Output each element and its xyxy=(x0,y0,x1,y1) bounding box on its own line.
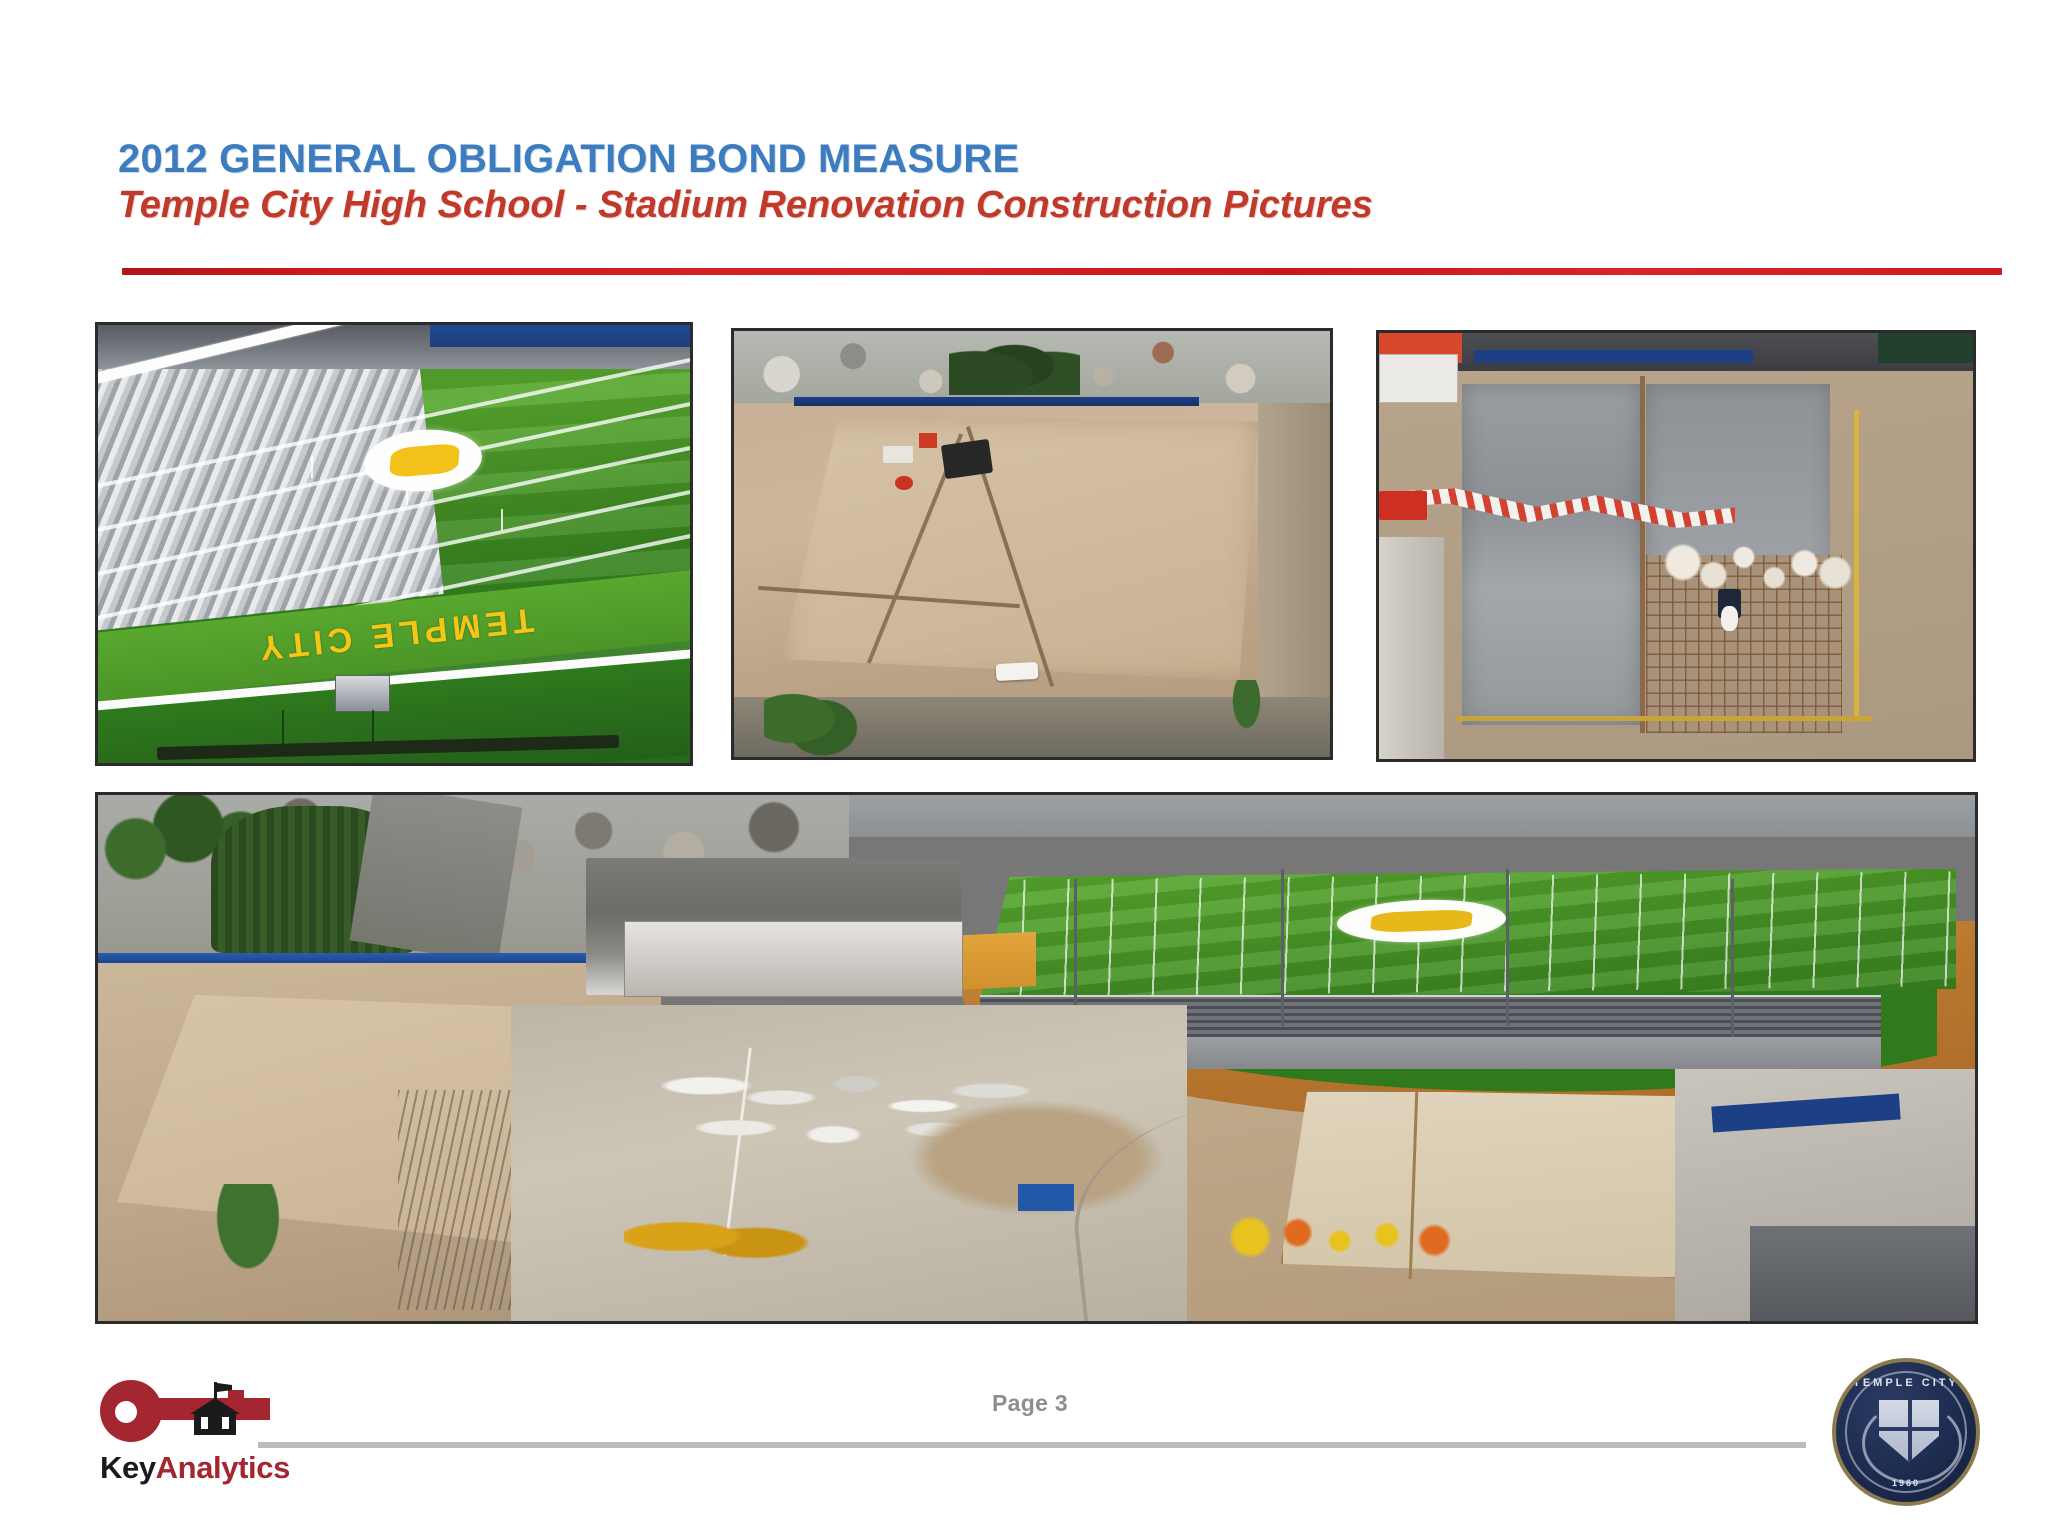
formwork-edge xyxy=(1640,376,1645,734)
logo-word-analytics: Analytics xyxy=(156,1450,290,1485)
flag-icon xyxy=(217,1383,232,1392)
field-equipment-cart xyxy=(335,675,390,712)
formwork-edge xyxy=(1456,716,1872,721)
light-pole xyxy=(1506,869,1509,1027)
blue-bin xyxy=(1018,1184,1074,1210)
page-number: Page 3 xyxy=(910,1390,1150,1417)
page-title: 2012 GENERAL OBLIGATION BOND MEASURE xyxy=(118,138,1978,180)
key-hole-icon xyxy=(115,1401,137,1423)
construction-workers xyxy=(1224,1216,1487,1258)
footer-divider xyxy=(258,1442,1806,1448)
slide: 2012 GENERAL OBLIGATION BOND MEASURE Tem… xyxy=(0,0,2048,1536)
foreground-tree xyxy=(764,680,859,757)
construction-equipment xyxy=(883,446,913,463)
red-truck xyxy=(1379,491,1427,521)
keyanalytics-wordmark: KeyAnalytics xyxy=(100,1450,290,1486)
green-screen-fence xyxy=(1878,333,1973,363)
slide-header: 2012 GENERAL OBLIGATION BOND MEASURE Tem… xyxy=(118,138,1978,226)
residential-street xyxy=(349,792,522,964)
school-window-icon xyxy=(222,1417,229,1429)
concrete-debris xyxy=(1664,542,1854,593)
photo-concrete-pour xyxy=(1376,330,1976,762)
schoolhouse-icon xyxy=(190,1382,240,1434)
light-pole xyxy=(1731,879,1734,1037)
school-window-icon xyxy=(201,1417,208,1429)
photo-completed-field: TEMPLE CITY xyxy=(95,322,693,766)
blue-fence xyxy=(794,397,1199,406)
blue-fence xyxy=(98,953,605,964)
construction-equipment xyxy=(624,1205,812,1268)
palm-tree xyxy=(1223,680,1271,748)
key-head-icon xyxy=(100,1380,162,1442)
formwork-edge xyxy=(1854,410,1859,717)
school-roof-icon xyxy=(190,1398,240,1414)
keyanalytics-logo: KeyAnalytics xyxy=(100,1374,340,1504)
site-building xyxy=(1750,1226,1975,1321)
blue-fence xyxy=(1474,350,1753,363)
hash-mark xyxy=(501,509,503,531)
white-truck xyxy=(996,662,1039,681)
shield-cross-horizontal xyxy=(1879,1427,1939,1431)
header-divider xyxy=(122,268,2002,275)
page-subtitle: Temple City High School - Stadium Renova… xyxy=(118,186,1978,226)
midfield-logo-mark xyxy=(389,443,460,479)
construction-equipment xyxy=(940,439,992,479)
graded-pad xyxy=(782,416,1259,680)
seal-year-text: 1960 xyxy=(1836,1478,1976,1488)
construction-equipment xyxy=(895,476,913,490)
logo-word-key: Key xyxy=(100,1450,156,1485)
hash-mark xyxy=(311,456,313,478)
photo-graded-dirt-field xyxy=(731,328,1333,760)
midfield-logo-mark xyxy=(1370,909,1473,933)
light-pole xyxy=(1281,869,1284,1027)
photo-site-panorama: TEMPLE xyxy=(95,792,1978,1324)
white-trailer xyxy=(1379,354,1458,403)
poured-slab xyxy=(1462,384,1640,725)
blue-fence xyxy=(430,322,693,347)
tree-row xyxy=(949,331,1080,395)
access-path xyxy=(1379,537,1444,759)
construction-equipment xyxy=(919,433,937,447)
temple-city-seal: TEMPLE CITY 1960 xyxy=(1832,1358,1980,1506)
seal-top-text: TEMPLE CITY xyxy=(1836,1377,1976,1389)
construction-worker xyxy=(1721,606,1739,632)
palm-tree xyxy=(192,1184,305,1310)
school-building xyxy=(624,921,964,997)
